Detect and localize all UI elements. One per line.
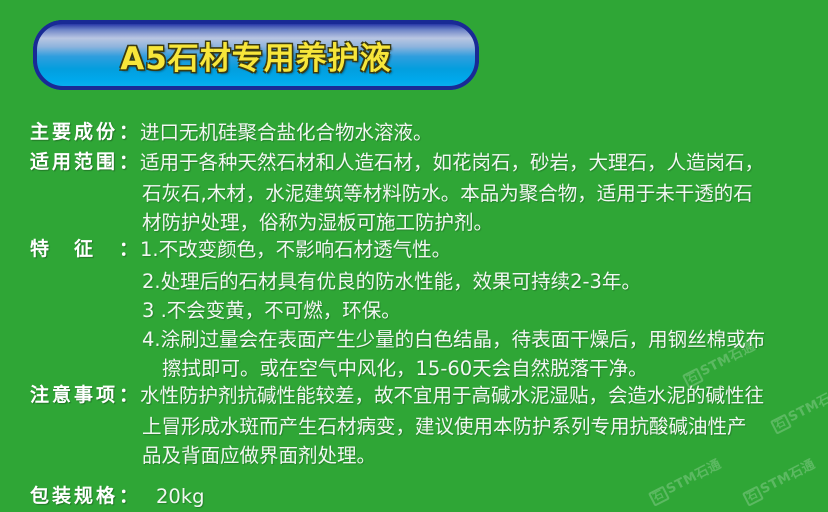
label-char: 规 xyxy=(74,482,93,512)
spec-row-application: 适 用 范 围 ： 适用于各种天然石材和人造石材，如花岗石，砂岩，大理石，人造岗… xyxy=(0,148,828,178)
spec-continuation-feature-4b: 擦拭即可。或在空气中风化，15-60天会自然脱落干净。 xyxy=(0,352,828,381)
spec-value-feature-4b: 擦拭即可。或在空气中风化，15-60天会自然脱落干净。 xyxy=(160,352,648,381)
indent-spacer xyxy=(0,206,140,235)
label-colon: ： xyxy=(119,381,138,411)
label-char: 装 xyxy=(52,482,71,512)
specification-body: 主 要 成 份 ： 进口无机硅聚合盐化合物水溶液。 适 用 范 围 ： 适用于各… xyxy=(0,118,828,512)
indent-spacer xyxy=(0,323,140,352)
label-char: 要 xyxy=(52,118,71,148)
label-char: 成 xyxy=(74,118,93,148)
label-char: 事 xyxy=(74,381,93,411)
indent-spacer xyxy=(0,439,140,468)
spec-label-packaging: 包 装 规 格 ： xyxy=(30,482,138,512)
spec-value-feature-2: 2.处理后的石材具有优良的防水性能，效果可持续2-3年。 xyxy=(140,265,641,294)
spec-row-features: 特 征 ： 1.不改变颜色，不影响石材透气性。 xyxy=(0,235,828,265)
spec-continuation-application-line3: 材防护处理，俗称为湿板可施工防护剂。 xyxy=(0,206,828,235)
indent-spacer xyxy=(0,410,140,439)
label-char: 征 xyxy=(74,235,93,265)
label-char: 项 xyxy=(96,381,115,411)
spec-label-features: 特 征 ： xyxy=(30,235,138,265)
indent-spacer xyxy=(0,265,140,294)
indent-spacer xyxy=(0,294,140,323)
spec-continuation-caution-line3: 品及背面应做界面剂处理。 xyxy=(0,439,828,468)
label-char: 特 xyxy=(30,235,49,265)
spec-value-caution-line3: 品及背面应做界面剂处理。 xyxy=(140,439,376,468)
spec-continuation-caution-line2: 上冒形成水斑而产生石材病变，建议使用本防护系列专用抗酸碱油性产 xyxy=(0,410,828,439)
spec-continuation-application-line2: 石灰石,木材，水泥建筑等材料防水。本品为聚合物，适用于未干透的石 xyxy=(0,177,828,206)
spec-row-cautions: 注 意 事 项 ： 水性防护剂抗碱性能较差，故不宜用于高碱水泥湿贴，会造水泥的碱… xyxy=(0,381,828,411)
label-char: 主 xyxy=(30,118,49,148)
label-colon: ： xyxy=(119,235,138,265)
spec-value-application-line3: 材防护处理，俗称为湿板可施工防护剂。 xyxy=(140,206,493,235)
label-colon: ： xyxy=(119,482,138,512)
label-colon: ： xyxy=(119,148,138,178)
label-char: 注 xyxy=(30,381,49,411)
label-char: 份 xyxy=(96,118,115,148)
label-char: 格 xyxy=(96,482,115,512)
spec-value-application-line1: 适用于各种天然石材和人造石材，如花岗石，砂岩，大理石，人造岗石， xyxy=(138,148,764,178)
label-char: 围 xyxy=(96,148,115,178)
label-char: 适 xyxy=(30,148,49,178)
spec-label-ingredients: 主 要 成 份 ： xyxy=(30,118,138,148)
spec-value-ingredients-line1: 进口无机硅聚合盐化合物水溶液。 xyxy=(138,118,433,148)
indent-spacer xyxy=(0,177,140,206)
spec-label-application: 适 用 范 围 ： xyxy=(30,148,138,178)
indent-spacer xyxy=(0,352,160,381)
spec-value-caution-line2: 上冒形成水斑而产生石材病变，建议使用本防护系列专用抗酸碱油性产 xyxy=(140,410,747,439)
spec-value-application-line2: 石灰石,木材，水泥建筑等材料防水。本品为聚合物，适用于未干透的石 xyxy=(140,177,753,206)
spec-continuation-feature-3: 3 .不会变黄，不可燃，环保。 xyxy=(0,294,828,323)
spec-value-caution-line1: 水性防护剂抗碱性能较差，故不宜用于高碱水泥湿贴，会造水泥的碱性往 xyxy=(138,381,764,411)
spec-value-feature-3: 3 .不会变黄，不可燃，环保。 xyxy=(140,294,401,323)
spec-row-packaging: 包 装 规 格 ： 20kg xyxy=(0,482,828,512)
spec-value-feature-1: 1.不改变颜色，不影响石材透气性。 xyxy=(138,235,451,265)
spec-value-feature-4: 4.涂刷过量会在表面产生少量的白色结晶，待表面干燥后，用钢丝棉或布 xyxy=(140,323,765,352)
spec-value-packaging: 20kg xyxy=(138,482,204,512)
spec-continuation-feature-4: 4.涂刷过量会在表面产生少量的白色结晶，待表面干燥后，用钢丝棉或布 xyxy=(0,323,828,352)
spec-label-cautions: 注 意 事 项 ： xyxy=(30,381,138,411)
label-char: 意 xyxy=(52,381,71,411)
spec-continuation-feature-2: 2.处理后的石材具有优良的防水性能，效果可持续2-3年。 xyxy=(0,265,828,294)
label-char: 包 xyxy=(30,482,49,512)
product-title-banner: A5石材专用养护液 xyxy=(33,20,479,90)
label-colon: ： xyxy=(119,118,138,148)
label-char: 范 xyxy=(74,148,93,178)
product-title: A5石材专用养护液 xyxy=(120,33,392,78)
label-char: 用 xyxy=(52,148,71,178)
spec-row-ingredients: 主 要 成 份 ： 进口无机硅聚合盐化合物水溶液。 xyxy=(0,118,828,148)
